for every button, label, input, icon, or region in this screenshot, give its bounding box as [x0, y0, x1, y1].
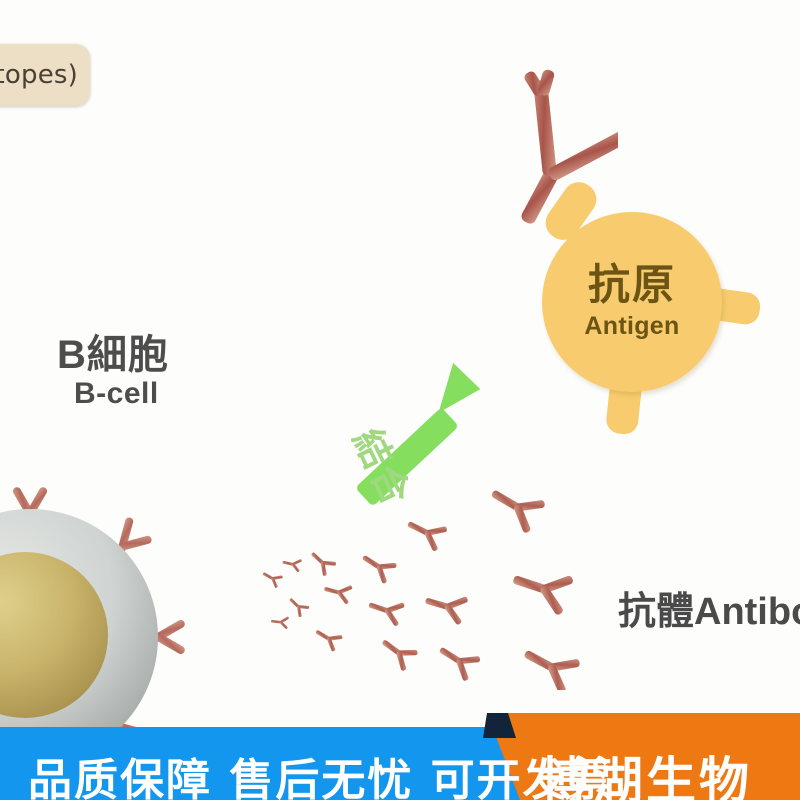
bound-antibody-icon: [488, 58, 618, 228]
bcell-label-cn: B細胞: [57, 322, 169, 380]
banner-right-text: 博湖生物: [540, 741, 752, 800]
diagram-canvas: Epitopes) 抗原 Antigen: [0, 0, 800, 800]
antibody-swarm: [250, 470, 630, 690]
epitopes-callout-label: Epitopes): [0, 60, 78, 90]
antibody-label: 抗體Antibo: [618, 580, 800, 635]
banner-left-text: 品质保障 售后无忧 可开发票: [28, 744, 615, 800]
bcell-label-en: B-cell: [74, 377, 159, 411]
epitopes-callout: Epitopes): [0, 44, 90, 106]
antigen-body: [542, 212, 722, 392]
